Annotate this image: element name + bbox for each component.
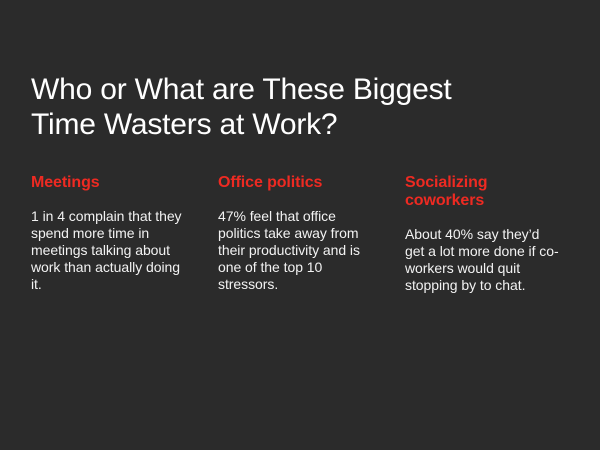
columns-container: Meetings 1 in 4 complain that they spend… — [31, 174, 576, 294]
column-meetings: Meetings 1 in 4 complain that they spend… — [31, 174, 186, 293]
page-title: Who or What are These Biggest Time Waste… — [31, 72, 561, 142]
column-body-socializing-coworkers: About 40% say they’d get a lot more done… — [405, 226, 560, 294]
column-body-meetings: 1 in 4 complain that they spend more tim… — [31, 208, 186, 293]
column-heading-meetings: Meetings — [31, 174, 186, 192]
column-heading-office-politics: Office politics — [218, 174, 373, 192]
column-office-politics: Office politics 47% feel that office pol… — [218, 174, 373, 293]
slide-canvas: Who or What are These Biggest Time Waste… — [0, 0, 600, 450]
column-body-office-politics: 47% feel that office politics take away … — [218, 208, 373, 293]
column-socializing-coworkers: Socializing coworkers About 40% say they… — [405, 174, 560, 294]
column-heading-socializing-coworkers: Socializing coworkers — [405, 174, 560, 210]
